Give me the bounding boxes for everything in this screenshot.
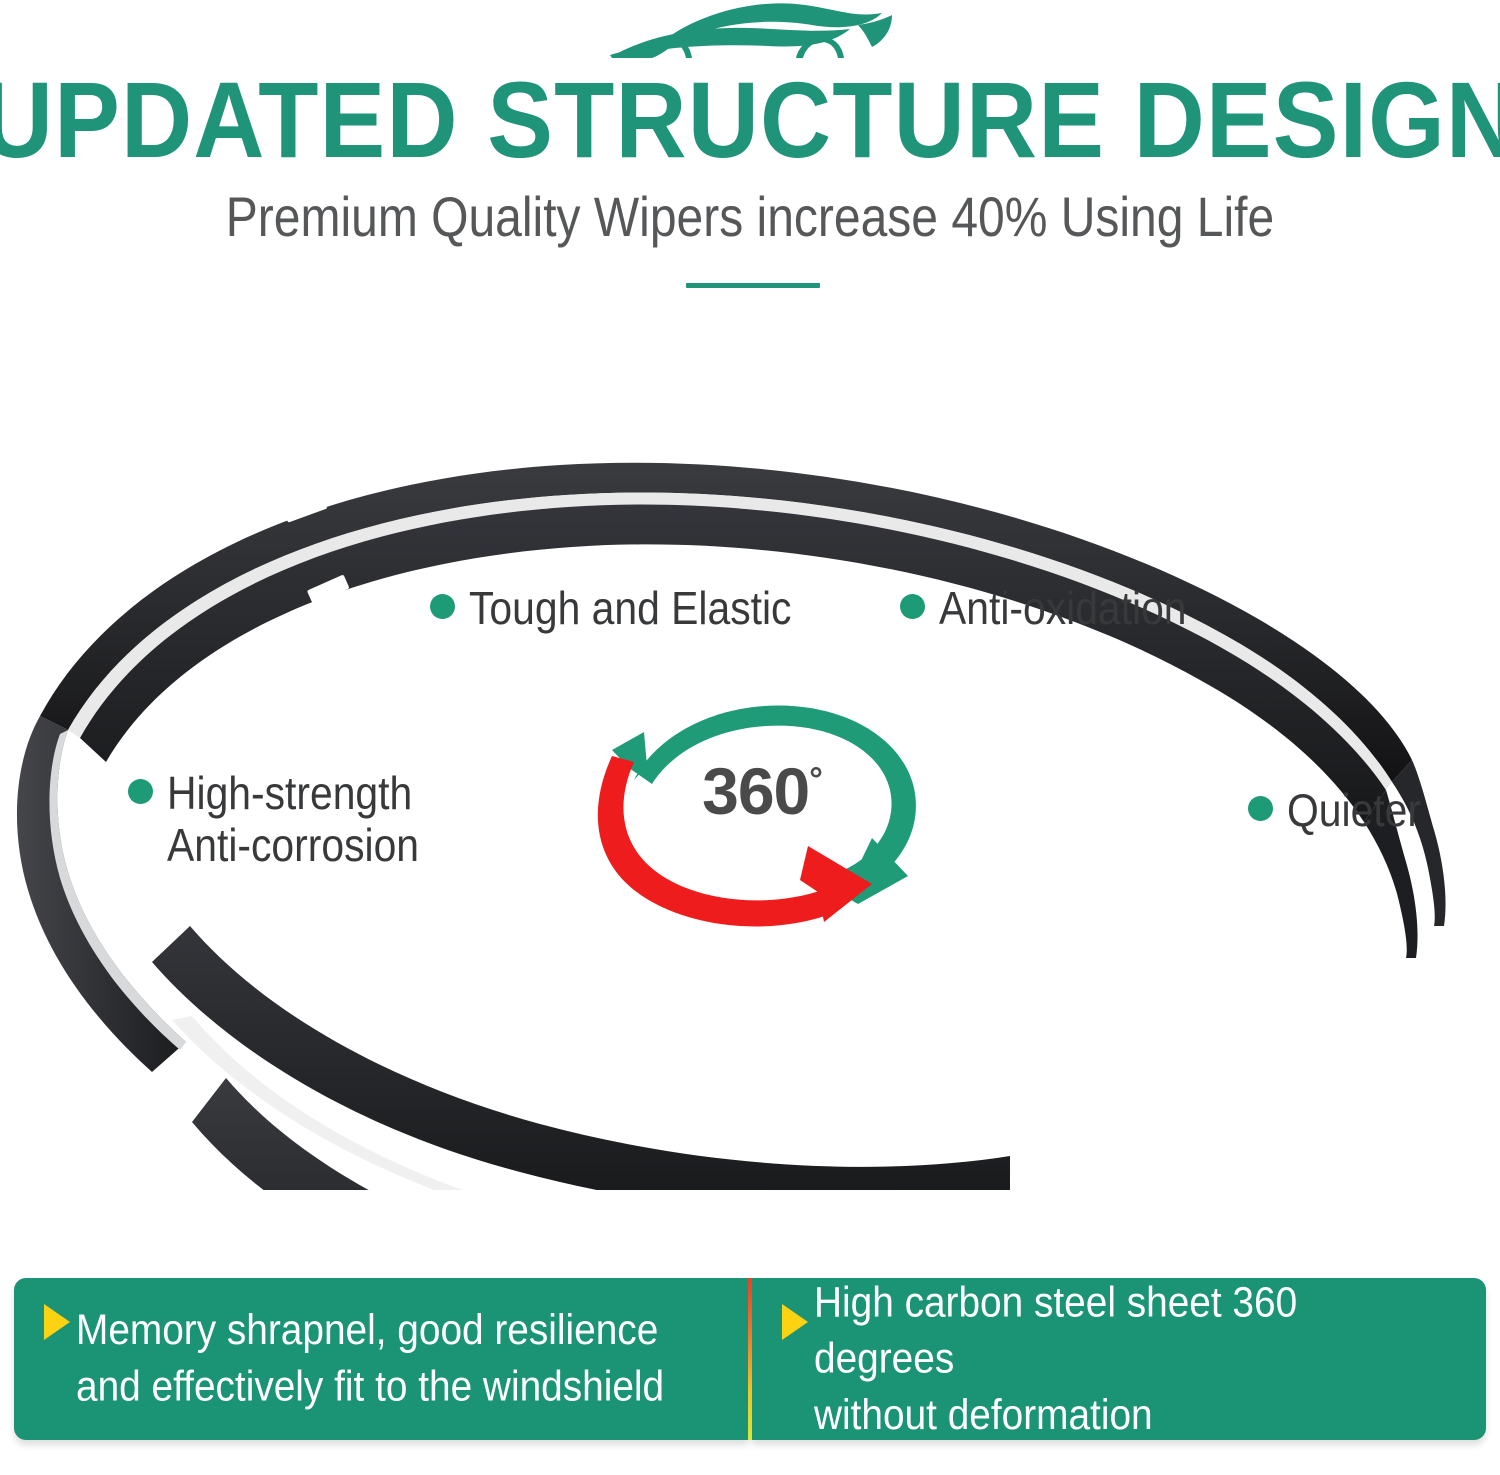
bullet-dot-icon: [128, 779, 153, 804]
banner-text: Memory shrapnel, good resilience and eff…: [76, 1303, 664, 1415]
infographic-page: UPDATED STRUCTURE DESIGN Premium Quality…: [0, 0, 1500, 1475]
feature-callout-quieter: Quieter: [1248, 785, 1428, 833]
car-silhouette-icon: [600, 3, 900, 63]
page-subtitle: Premium Quality Wipers increase 40% Usin…: [30, 182, 1470, 251]
feature-label: Anti-oxidation: [939, 583, 1187, 635]
badge-number: 360: [702, 754, 809, 828]
triangle-right-icon: [782, 1304, 808, 1340]
badge-value: 360°: [572, 758, 952, 824]
page-title: UPDATED STRUCTURE DESIGN: [0, 62, 1500, 179]
feature-label: High-strength Anti-corrosion: [167, 768, 419, 872]
banner-divider: [748, 1278, 752, 1440]
feature-callout-high-strength: High-strength Anti-corrosion: [128, 768, 432, 864]
feature-label: Quieter: [1287, 785, 1421, 837]
banner-high-carbon-steel: High carbon steel sheet 360 degrees with…: [752, 1278, 1486, 1440]
bullet-dot-icon: [1248, 796, 1273, 821]
bullet-dot-icon: [900, 594, 925, 619]
banner-text: High carbon steel sheet 360 degrees with…: [814, 1275, 1441, 1444]
banner-memory-shrapnel: Memory shrapnel, good resilience and eff…: [14, 1278, 748, 1440]
lower-notch-lower: [1002, 1096, 1082, 1130]
triangle-right-icon: [44, 1304, 70, 1340]
brand-logo: [0, 2, 1500, 64]
feature-callout-anti-oxidation: Anti-oxidation: [900, 583, 1200, 631]
bottom-banner-row: Memory shrapnel, good resilience and eff…: [14, 1278, 1486, 1440]
lower-notch-upper: [1002, 962, 1082, 996]
header-divider-rule: [686, 283, 820, 288]
badge-degree-symbol: °: [809, 761, 822, 799]
bullet-dot-icon: [430, 594, 455, 619]
feature-label: Tough and Elastic: [469, 583, 791, 635]
feature-callout-tough: Tough and Elastic: [430, 583, 808, 631]
badge-360-degrees: 360°: [572, 688, 952, 940]
